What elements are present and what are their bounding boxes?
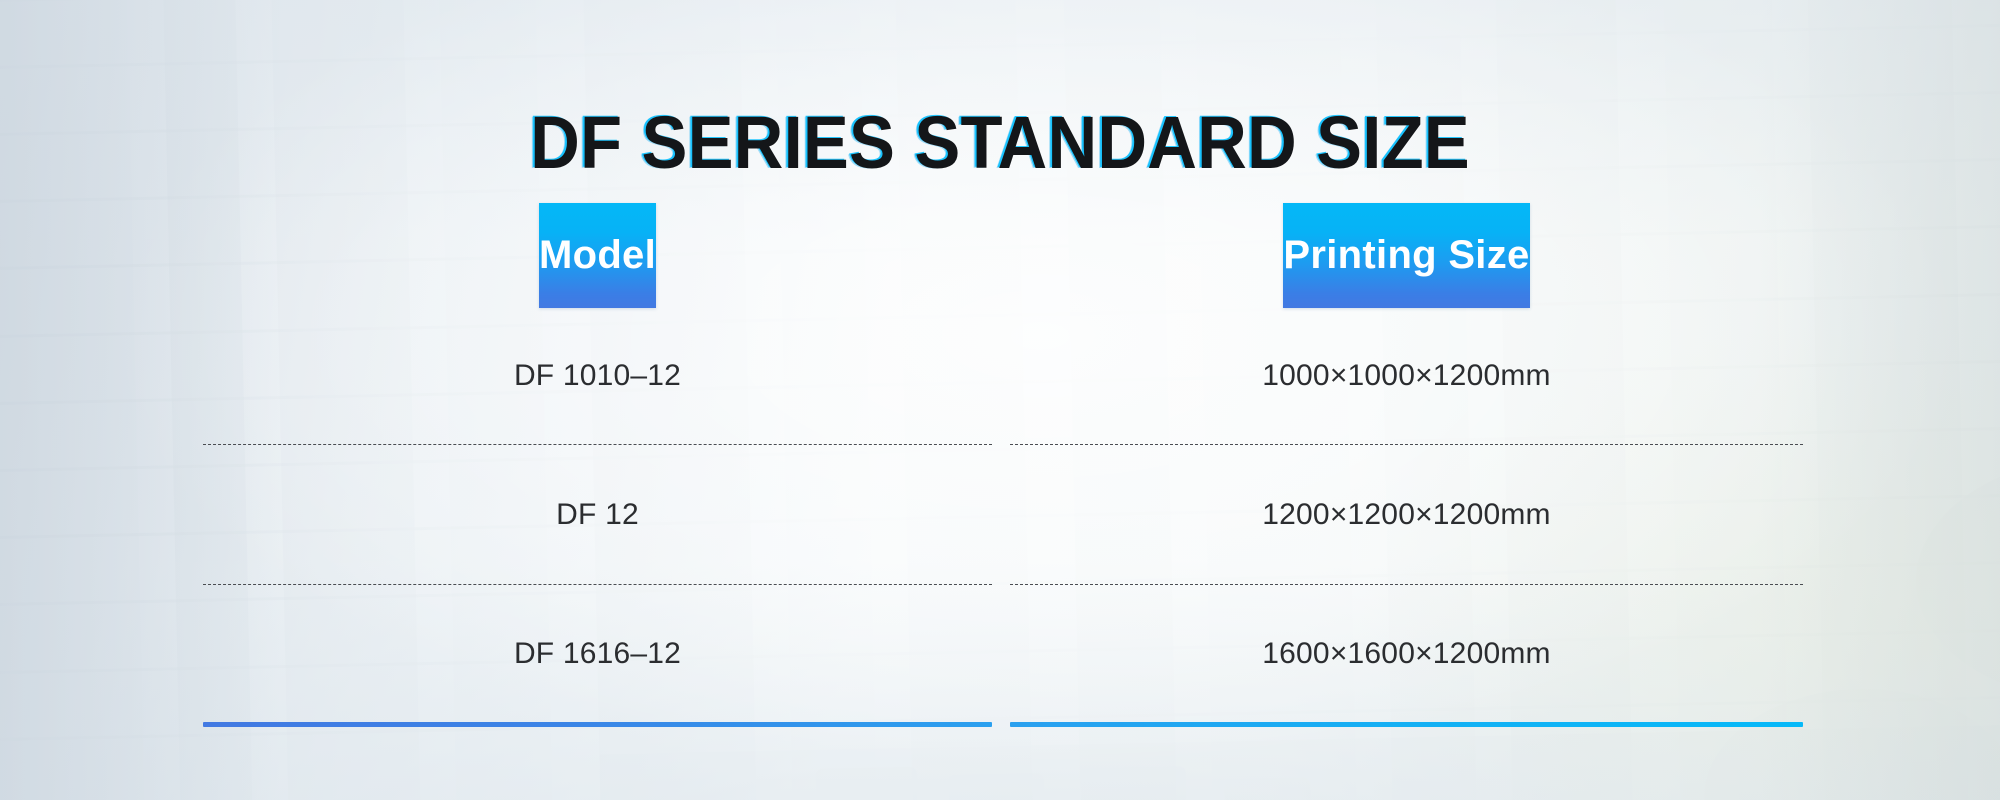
table-cell-printing-size: 1600×1600×1200mm bbox=[1010, 586, 1803, 722]
column-gap bbox=[992, 586, 1010, 722]
bottom-rule-segment-left bbox=[203, 722, 992, 727]
table-cell-printing-size: 1000×1000×1200mm bbox=[1010, 308, 1803, 444]
table-row: DF 1616–12 1600×1600×1200mm bbox=[203, 586, 1803, 722]
table-cell-model: DF 12 bbox=[203, 446, 992, 584]
divider-segment-left bbox=[203, 584, 992, 585]
divider-segment-left bbox=[203, 444, 992, 445]
bottom-rule-segment-right bbox=[1010, 722, 1803, 727]
bottom-rule-gap bbox=[992, 722, 1010, 727]
table-header-cell-printing-size: Printing Size bbox=[1010, 203, 1803, 308]
cell-value-printing-size: 1000×1000×1200mm bbox=[1262, 308, 1550, 444]
column-gap bbox=[992, 308, 1010, 444]
cell-value-printing-size: 1200×1200×1200mm bbox=[1262, 446, 1550, 584]
cell-value-model: DF 1616–12 bbox=[514, 586, 681, 722]
content-layer: DF SERIES STANDARD SIZE Model Printing S… bbox=[0, 0, 2000, 800]
divider-segment-right bbox=[1010, 584, 1803, 585]
table-bottom-rule bbox=[203, 722, 1803, 727]
table-header-row: Model Printing Size bbox=[203, 203, 1803, 308]
column-header-model: Model bbox=[539, 203, 656, 308]
column-gap bbox=[992, 203, 1010, 308]
standard-size-table: Model Printing Size DF 1010–12 1000×1000… bbox=[203, 203, 1803, 727]
table-cell-printing-size: 1200×1200×1200mm bbox=[1010, 446, 1803, 584]
cell-value-model: DF 1010–12 bbox=[514, 308, 681, 444]
cell-value-model: DF 12 bbox=[556, 446, 639, 584]
table-row: DF 12 1200×1200×1200mm bbox=[203, 446, 1803, 584]
table-row: DF 1010–12 1000×1000×1200mm bbox=[203, 308, 1803, 444]
column-header-printing-size: Printing Size bbox=[1283, 203, 1529, 308]
column-gap bbox=[992, 446, 1010, 584]
cell-value-printing-size: 1600×1600×1200mm bbox=[1262, 586, 1550, 722]
page-title: DF SERIES STANDARD SIZE bbox=[70, 106, 1930, 180]
divider-segment-right bbox=[1010, 444, 1803, 445]
table-cell-model: DF 1010–12 bbox=[203, 308, 992, 444]
table-header-cell-model: Model bbox=[203, 203, 992, 308]
page-root: DF SERIES STANDARD SIZE Model Printing S… bbox=[0, 0, 2000, 800]
table-cell-model: DF 1616–12 bbox=[203, 586, 992, 722]
